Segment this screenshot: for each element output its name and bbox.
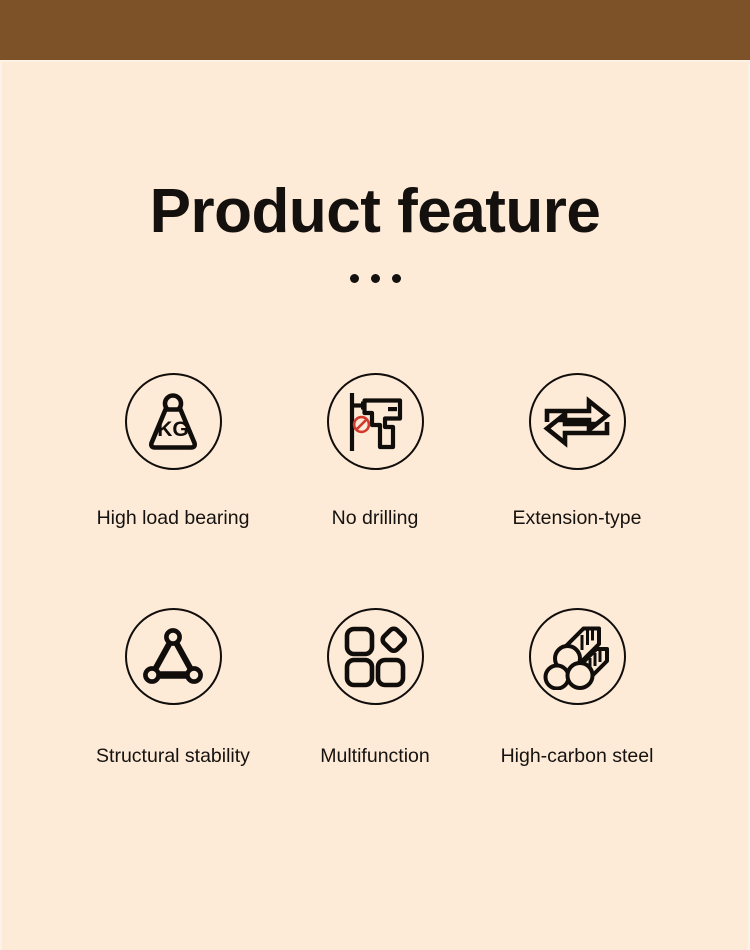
triangle-nodes-icon-circle: [125, 608, 222, 705]
feature-item-structural-stability: Structural stability: [72, 608, 274, 768]
prohibition-badge-icon: [354, 417, 369, 432]
product-feature-banner: Product feature KG High load bearing: [0, 0, 750, 950]
feature-item-high-carbon-steel: High-carbon steel: [476, 608, 678, 768]
band-seam-divider: [0, 60, 750, 62]
feature-row-1: KG High load bearing No dr: [0, 373, 750, 530]
four-shapes-icon: [343, 625, 407, 689]
divider-dot-2: [371, 274, 380, 283]
no-drilling-icon-circle: [327, 373, 424, 470]
feature-item-high-load-bearing: KG High load bearing: [72, 373, 274, 530]
feature-item-extension-type: Extension-type: [476, 373, 678, 530]
divider-dot-3: [392, 274, 401, 283]
bidirectional-arrows-icon: [543, 393, 611, 451]
feature-label-multifunction: Multifunction: [320, 744, 429, 768]
feature-label-extension-type: Extension-type: [513, 506, 642, 530]
feature-label-high-carbon-steel: High-carbon steel: [501, 744, 654, 768]
divider-dot-1: [350, 274, 359, 283]
steel-bars-icon: [543, 624, 611, 690]
feature-label-structural-stability: Structural stability: [96, 744, 250, 768]
feature-row-2: Structural stability Multifunction: [0, 608, 750, 768]
triangle-nodes-icon: [141, 627, 205, 687]
four-shapes-icon-circle: [327, 608, 424, 705]
weight-icon-text: KG: [157, 418, 189, 441]
weight-kg-icon: KG: [138, 387, 208, 457]
steel-bars-icon-circle: [529, 608, 626, 705]
weight-kg-icon-circle: KG: [125, 373, 222, 470]
top-brown-band: [0, 0, 750, 60]
feature-label-high-load-bearing: High load bearing: [97, 506, 250, 530]
bidirectional-arrows-icon-circle: [529, 373, 626, 470]
feature-label-no-drilling: No drilling: [332, 506, 419, 530]
page-title: Product feature: [0, 176, 750, 248]
no-drilling-icon: [338, 385, 412, 459]
feature-item-no-drilling: No drilling: [274, 373, 476, 530]
divider-dots: [0, 274, 750, 283]
feature-item-multifunction: Multifunction: [274, 608, 476, 768]
